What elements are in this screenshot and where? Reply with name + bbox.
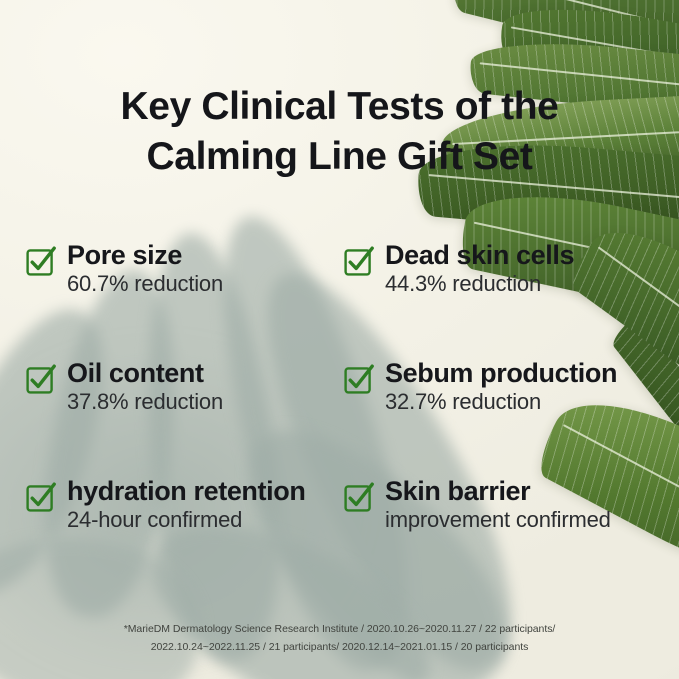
page-title: Key Clinical Tests of the Calming Line G…	[0, 82, 679, 182]
list-item-text: Skin barrier improvement confirmed	[385, 476, 679, 533]
list-item-title: Oil content	[67, 358, 204, 388]
list-item-text: Sebum production 32.7% reduction	[385, 358, 679, 415]
promo-poster: Key Clinical Tests of the Calming Line G…	[0, 0, 679, 679]
list-item-subtitle: 32.7% reduction	[385, 389, 541, 414]
check-square-icon	[344, 247, 373, 276]
check-square-icon	[26, 483, 55, 512]
list-item: Oil content 37.8% reduction	[0, 358, 335, 476]
list-item: Skin barrier improvement confirmed	[335, 476, 679, 594]
list-item-subtitle: improvement confirmed	[385, 507, 611, 532]
list-item-title: Skin barrier	[385, 476, 530, 506]
list-item: Pore size 60.7% reduction	[0, 240, 335, 358]
list-item-subtitle: 44.3% reduction	[385, 271, 541, 296]
list-item-text: hydration retention 24-hour confirmed	[67, 476, 335, 533]
list-item: Dead skin cells 44.3% reduction	[335, 240, 679, 358]
page-title-line-1: Key Clinical Tests of the	[0, 82, 679, 132]
check-square-icon	[26, 247, 55, 276]
list-item-title: Dead skin cells	[385, 240, 574, 270]
list-item-text: Dead skin cells 44.3% reduction	[385, 240, 679, 297]
page-title-line-2: Calming Line Gift Set	[0, 132, 679, 182]
list-item-title: Pore size	[67, 240, 182, 270]
footnote-line-1: *MarieDM Dermatology Science Research In…	[0, 620, 679, 638]
footnote: *MarieDM Dermatology Science Research In…	[0, 620, 679, 656]
list-row: Pore size 60.7% reduction Dead skin cell…	[0, 240, 679, 358]
list-item-title: hydration retention	[67, 476, 305, 506]
list-item: hydration retention 24-hour confirmed	[0, 476, 335, 594]
list-item-text: Pore size 60.7% reduction	[67, 240, 335, 297]
check-square-icon	[26, 365, 55, 394]
clinical-results-list: Pore size 60.7% reduction Dead skin cell…	[0, 240, 679, 594]
check-square-icon	[344, 365, 373, 394]
list-item-title: Sebum production	[385, 358, 617, 388]
footnote-line-2: 2022.10.24~2022.11.25 / 21 participants/…	[0, 638, 679, 656]
poster-content: Key Clinical Tests of the Calming Line G…	[0, 0, 679, 679]
list-item: Sebum production 32.7% reduction	[335, 358, 679, 476]
list-item-subtitle: 24-hour confirmed	[67, 507, 242, 532]
list-row: Oil content 37.8% reduction Sebum produc…	[0, 358, 679, 476]
list-row: hydration retention 24-hour confirmed Sk…	[0, 476, 679, 594]
check-square-icon	[344, 483, 373, 512]
list-item-text: Oil content 37.8% reduction	[67, 358, 335, 415]
list-item-subtitle: 60.7% reduction	[67, 271, 223, 296]
list-item-subtitle: 37.8% reduction	[67, 389, 223, 414]
